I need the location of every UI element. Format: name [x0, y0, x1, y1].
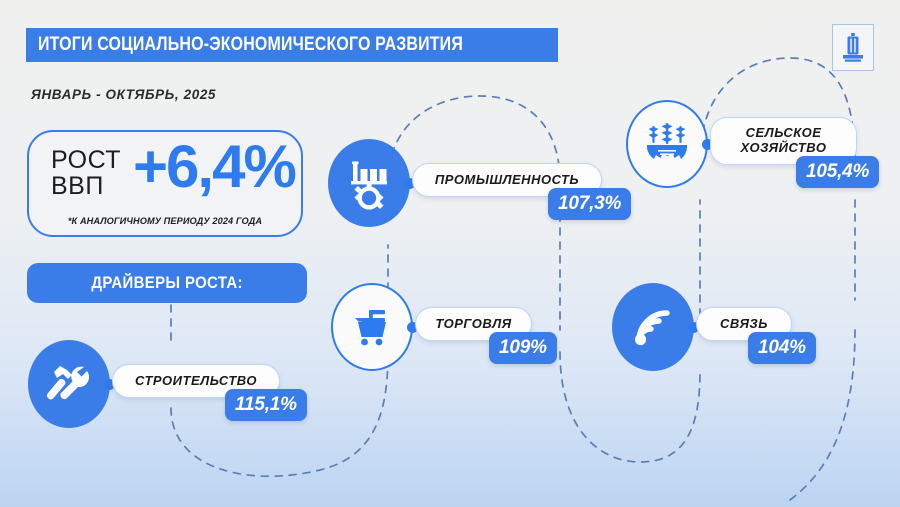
monument-building-emblem-icon: [840, 32, 866, 64]
infographic-canvas: ИТОГИ СОЦИАЛЬНО-ЭКОНОМИЧЕСКОГО РАЗВИТИЯ …: [0, 0, 900, 507]
trade-label: ТОРГОВЛЯ: [435, 317, 511, 332]
dashed-connector-path: [0, 0, 900, 507]
agriculture-icon-circle: [626, 100, 708, 188]
gdp-footnote: *К АНАЛОГИЧНОМУ ПЕРИОДУ 2024 ГОДА: [29, 216, 301, 226]
trade-icon-circle: [331, 283, 413, 371]
period-subtitle: ЯНВАРЬ - ОКТЯБРЬ, 2025: [31, 87, 216, 102]
hammer-wrench-icon: [43, 358, 95, 410]
wifi-signal-icon: [627, 301, 679, 353]
agriculture-value: 105,4%: [806, 161, 869, 183]
trade-value: 109%: [499, 337, 547, 359]
factory-gear-icon: [342, 156, 396, 210]
industry-label: ПРОМЫШЛЕННОСТЬ: [435, 173, 579, 188]
page-title: ИТОГИ СОЦИАЛЬНО-ЭКОНОМИЧЕСКОГО РАЗВИТИЯ: [38, 34, 463, 56]
page-title-banner: ИТОГИ СОЦИАЛЬНО-ЭКОНОМИЧЕСКОГО РАЗВИТИЯ: [26, 28, 558, 62]
gdp-value: +6,4%: [133, 137, 295, 197]
agriculture-value-badge: 105,4%: [796, 156, 879, 188]
communications-value: 104%: [758, 337, 806, 359]
growth-drivers-label: ДРАЙВЕРЫ РОСТА:: [91, 273, 243, 293]
gdp-label: РОСТ ВВП: [51, 148, 121, 199]
industry-value: 107,3%: [558, 193, 621, 215]
wheat-gear-icon: [640, 117, 694, 171]
construction-value-badge: 115,1%: [225, 389, 307, 421]
construction-icon-circle: [28, 340, 110, 428]
industry-icon-circle: [328, 139, 410, 227]
gdp-growth-card: РОСТ ВВП +6,4% *К АНАЛОГИЧНОМУ ПЕРИОДУ 2…: [27, 130, 303, 237]
communications-icon-circle: [612, 283, 694, 371]
growth-drivers-header: ДРАЙВЕРЫ РОСТА:: [27, 263, 307, 303]
agriculture-label: СЕЛЬСКОЕ ХОЗЯЙСТВО: [741, 126, 827, 156]
shopping-cart-icon: [347, 302, 397, 352]
communications-label: СВЯЗЬ: [720, 317, 768, 332]
organization-logo: [832, 24, 874, 71]
construction-value: 115,1%: [235, 394, 297, 416]
trade-value-badge: 109%: [489, 332, 557, 364]
industry-value-badge: 107,3%: [548, 188, 631, 220]
construction-label: СТРОИТЕЛЬСТВО: [135, 374, 257, 389]
communications-value-badge: 104%: [748, 332, 816, 364]
